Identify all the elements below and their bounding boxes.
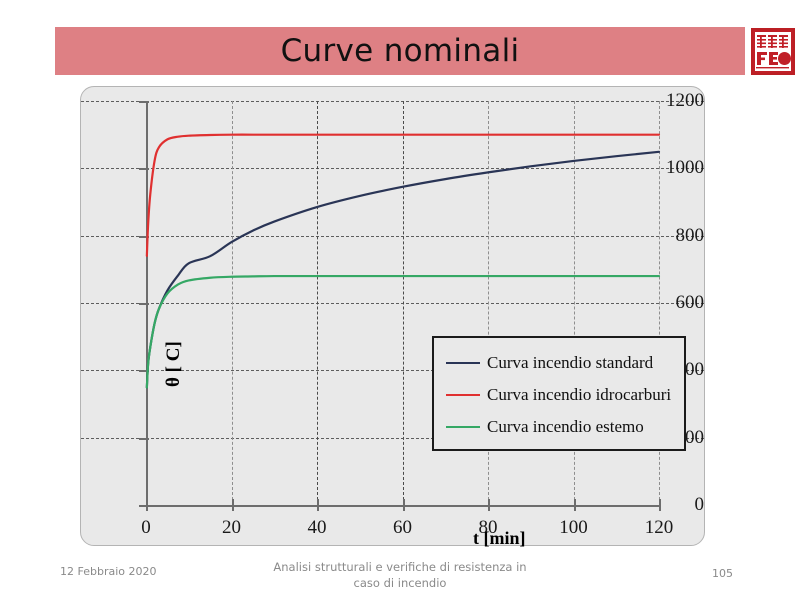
y-axis-tick-label: 1200: [652, 90, 704, 112]
legend-item-estemo: Curva incendio estemo: [434, 411, 684, 443]
x-axis-tick-label: 60: [373, 517, 433, 539]
legend-swatch-idrocarburi: [446, 394, 480, 396]
series-line-1: [147, 135, 659, 256]
x-axis-tick: [659, 499, 661, 511]
legend-item-idrocarburi: Curva incendio idrocarburi: [434, 379, 684, 411]
legend-item-standard: Curva incendio standard: [434, 347, 684, 379]
x-axis-tick-label: 40: [287, 517, 347, 539]
x-axis-tick-label: 0: [116, 517, 176, 539]
footer-page-number: 105: [712, 567, 733, 580]
y-axis-tick-label: 1000: [652, 157, 704, 179]
x-axis-tick-label: 100: [544, 517, 604, 539]
y-axis-tick-label: 800: [652, 225, 704, 247]
footer-subtitle-line1: Analisi strutturali e verifiche di resis…: [270, 559, 530, 575]
x-axis-tick-label: 120: [629, 517, 689, 539]
legend-swatch-standard: [446, 362, 480, 364]
legend-swatch-estemo: [446, 426, 480, 428]
page-title: Curve nominali: [55, 27, 745, 75]
fb-seal-icon: [753, 30, 793, 73]
slide-title-bar: Curve nominali: [55, 27, 745, 75]
fb-seal-logo: [751, 28, 795, 75]
x-axis-title: t [min]: [473, 528, 526, 549]
chart-panel: 1200 1000 800 600 400 200 0 0 20 40 60 8…: [80, 86, 705, 546]
legend-label-idrocarburi: Curva incendio idrocarburi: [487, 385, 671, 405]
chart-legend: Curva incendio standard Curva incendio i…: [432, 336, 686, 451]
footer-subtitle-line2: caso di incendio: [270, 575, 530, 591]
footer-subtitle: Analisi strutturali e verifiche di resis…: [270, 559, 530, 591]
legend-label-estemo: Curva incendio estemo: [487, 417, 644, 437]
x-axis-tick-label: 20: [202, 517, 262, 539]
y-axis-tick-label: 600: [652, 292, 704, 314]
legend-label-standard: Curva incendio standard: [487, 353, 653, 373]
footer-date: 12 Febbraio 2020: [60, 565, 157, 578]
